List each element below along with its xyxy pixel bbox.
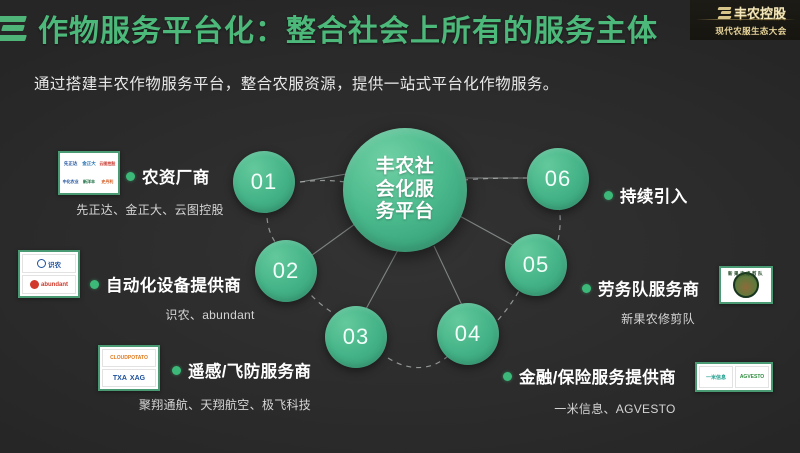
item-03-label: 遥感/飞防服务商 xyxy=(188,358,311,382)
item-01-label-group: 农资厂商 xyxy=(126,164,210,188)
logo-plate-03: CLOUDPOTATO TXA XAG xyxy=(98,345,160,391)
abundant-logo: abundant xyxy=(22,275,76,294)
kingenta-logo: 金正大 xyxy=(80,155,97,173)
bullet-dot-02 xyxy=(90,280,99,289)
partner-logo-4: 中化农业 xyxy=(62,174,79,192)
item-04-label: 金融/保险服务提供商 xyxy=(519,364,676,388)
node-05-number: 05 xyxy=(523,252,549,278)
logo-plate-05: 新果农修剪队 xyxy=(719,266,773,304)
txa-xag-logos: TXA XAG xyxy=(102,369,156,387)
node-06[interactable]: 06 xyxy=(527,148,589,210)
link-02-03 xyxy=(305,288,338,316)
node-02[interactable]: 02 xyxy=(255,240,317,302)
item-01-companies: 先正达、金正大、云图控股 xyxy=(60,201,240,218)
bullet-dot-01 xyxy=(126,172,135,181)
node-01-number: 01 xyxy=(251,169,277,195)
item-06-label-group: 持续引入 xyxy=(604,183,688,207)
node-03[interactable]: 03 xyxy=(325,306,387,368)
link-hub-05 xyxy=(456,214,518,248)
logo-plate-04: 一米信息 AGVESTO xyxy=(695,362,773,392)
item-06-label: 持续引入 xyxy=(620,183,688,207)
item-04-label-group: 金融/保险服务提供商 xyxy=(503,364,676,388)
item-02-companies: 识农、abundant xyxy=(120,306,300,323)
item-05-companies: 新果农修剪队 xyxy=(578,310,738,327)
node-05[interactable]: 05 xyxy=(505,234,567,296)
agvesto-logo: AGVESTO xyxy=(735,366,769,388)
item-02-label-group: 自动化设备提供商 xyxy=(90,272,241,296)
item-03-label-group: 遥感/飞防服务商 xyxy=(172,358,311,382)
cloudpotato-logo: CLOUDPOTATO xyxy=(102,349,156,367)
node-06-number: 06 xyxy=(545,166,571,192)
blob-icon xyxy=(30,280,39,289)
item-02-label: 自动化设备提供商 xyxy=(106,272,241,296)
xinguonong-emblem-logo: 新果农修剪队 xyxy=(723,270,769,300)
logo-plate-01: 先正达 金正大 云图控股 中化农业 新洋丰 史丹利 xyxy=(58,151,120,195)
item-01-label: 农资厂商 xyxy=(142,164,210,188)
bullet-dot-06 xyxy=(604,191,613,200)
hub-label-line-1: 丰农社 xyxy=(376,156,435,178)
yimi-logo: 一米信息 xyxy=(699,366,733,388)
logo-plate-02: 识农 abundant xyxy=(18,250,80,298)
item-03-companies: 聚翔通航、天翔航空、极飞科技 xyxy=(100,396,350,413)
hub-label-line-3: 务平台 xyxy=(376,201,435,223)
node-04-number: 04 xyxy=(455,321,481,347)
bullet-dot-03 xyxy=(172,366,181,375)
partner-logo-5: 新洋丰 xyxy=(80,174,97,192)
shinong-logo: 识农 xyxy=(22,254,76,273)
bullet-dot-05 xyxy=(582,284,591,293)
syngenta-logo: 先正达 xyxy=(62,155,79,173)
item-04-companies: 一米信息、AGVESTO xyxy=(500,400,730,417)
yuntu-logo: 云图控股 xyxy=(99,155,116,173)
partner-logo-6: 史丹利 xyxy=(99,174,116,192)
item-05-label-group: 劳务队服务商 xyxy=(582,276,699,300)
node-02-number: 02 xyxy=(273,258,299,284)
hub-label: 丰农社 会化服 务平台 xyxy=(376,156,435,223)
node-04[interactable]: 04 xyxy=(437,303,499,365)
hub-label-line-2: 会化服 xyxy=(376,179,435,201)
hub-node[interactable]: 丰农社 会化服 务平台 xyxy=(343,128,467,252)
node-03-number: 03 xyxy=(343,324,369,350)
item-05-label: 劳务队服务商 xyxy=(598,276,699,300)
slide-canvas: 丰农控股 现代农服生态大会 作物服务平台化：整合社会上所有的服务主体 通过搭建丰… xyxy=(0,0,800,453)
link-03-04 xyxy=(388,356,448,368)
node-01[interactable]: 01 xyxy=(233,151,295,213)
bullet-dot-04 xyxy=(503,372,512,381)
ring-icon xyxy=(37,259,46,268)
platform-network-diagram: 丰农社 会化服 务平台 01 02 03 04 05 06 先正达 xyxy=(0,0,800,453)
